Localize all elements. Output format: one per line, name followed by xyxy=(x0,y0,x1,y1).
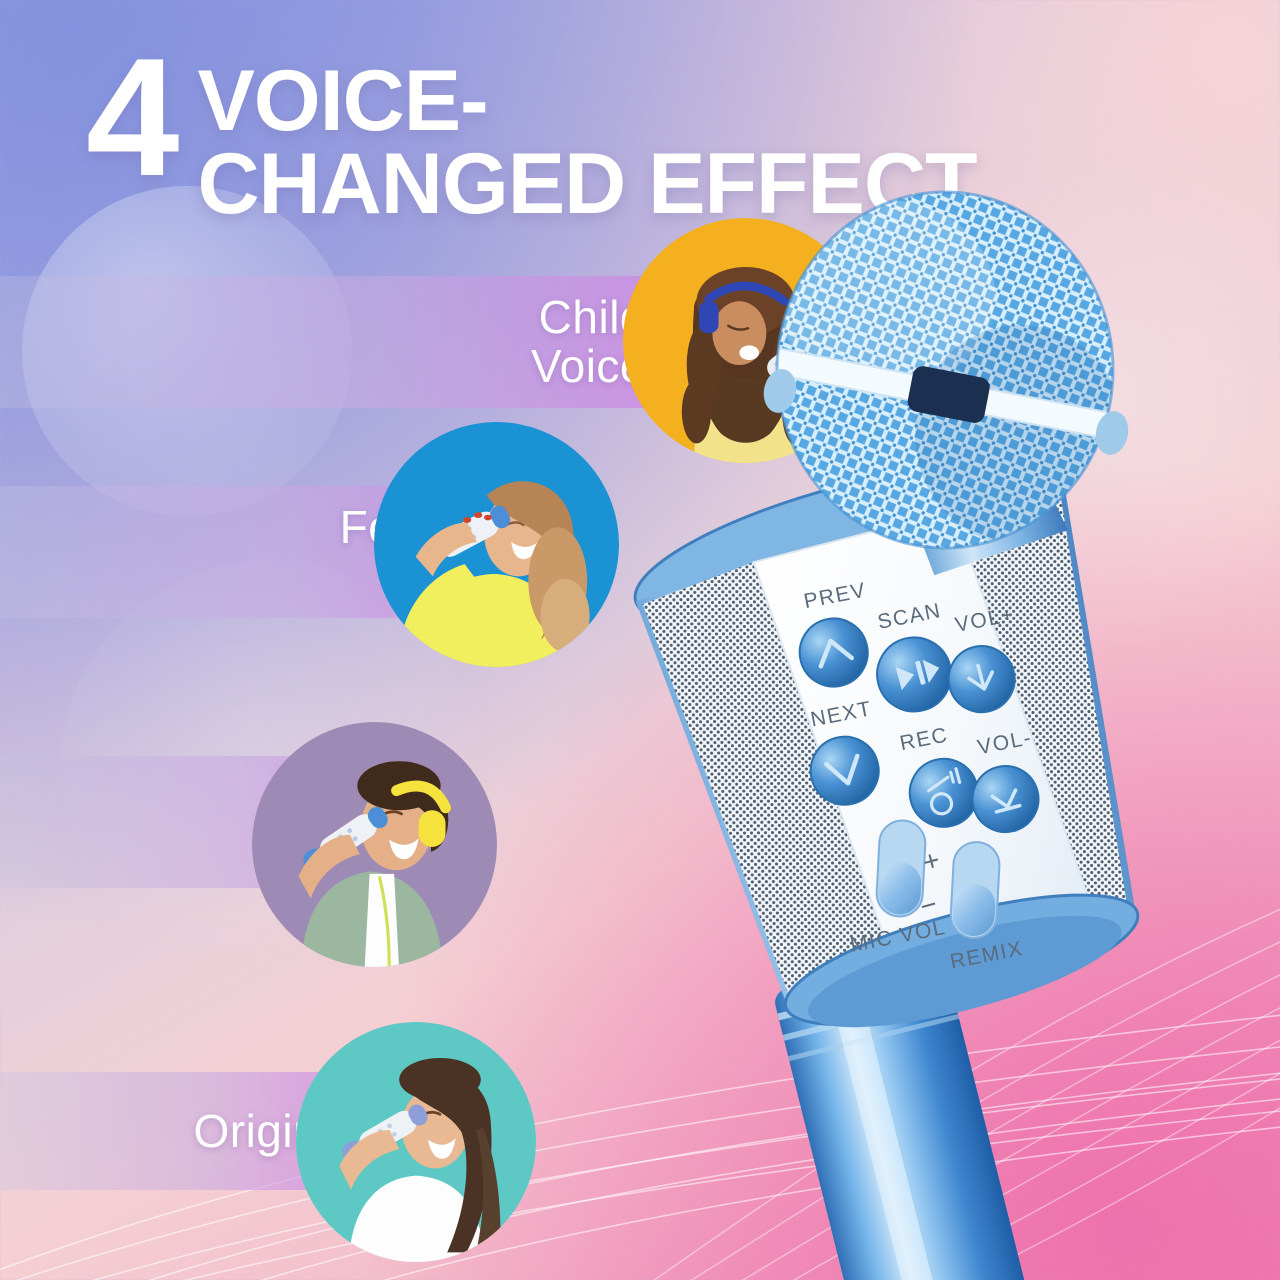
effect-label-child: ChildVoice xyxy=(0,276,680,408)
effect-photo-male xyxy=(252,722,497,967)
heading-line-1: VOICE- xyxy=(197,60,976,143)
product-microphone: PREV NEXT SCAN xyxy=(590,175,1280,1280)
effect-count-number: 4 xyxy=(86,44,175,192)
effect-photo-original xyxy=(296,1022,536,1262)
effect-photo-female xyxy=(374,422,619,667)
